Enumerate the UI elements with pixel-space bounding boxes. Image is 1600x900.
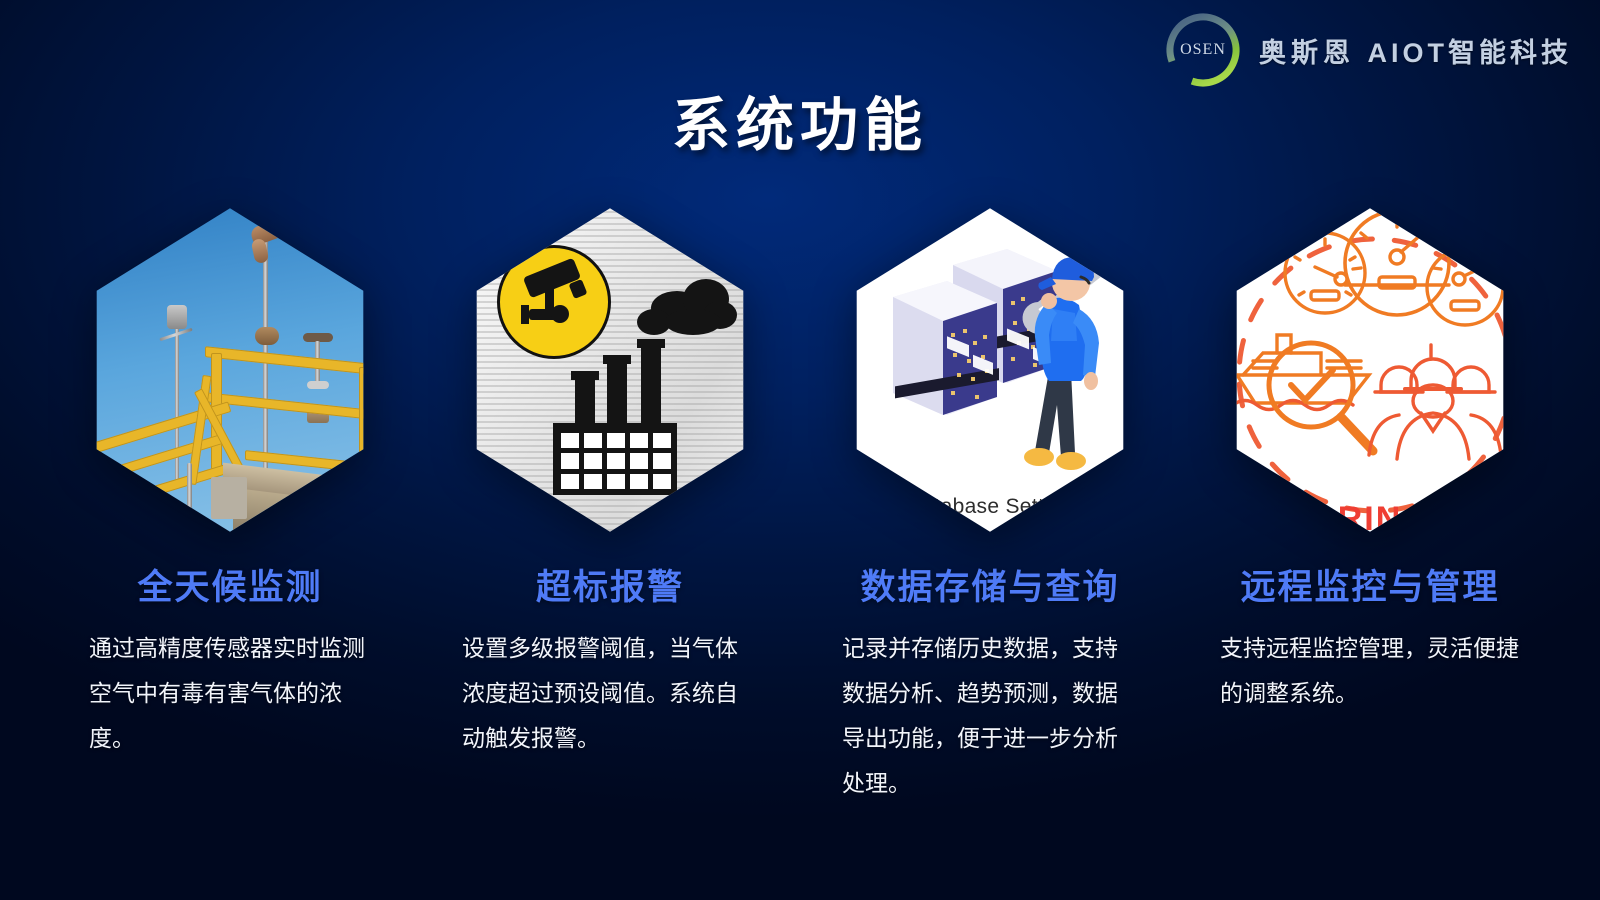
hexagon-image-frame (455, 205, 765, 535)
remote-monitoring-line-art-icon: ORING (1215, 205, 1525, 535)
card-heading: 远程监控与管理 (1240, 559, 1499, 610)
feature-card-over-limit-alarm: 超标报警 设置多级报警阈值，当气体浓度超过预设阈值。系统自动触发报警。 (440, 205, 780, 761)
hexagon-image-frame: Database Setting (835, 205, 1145, 535)
slide-canvas: OSEN 奥斯恩 AIOT智能科技 系统功能 (0, 0, 1600, 900)
feature-cards: 全天候监测 通过高精度传感器实时监测空气中有毒有害气体的浓度。 (60, 205, 1540, 805)
card-heading: 数据存储与查询 (860, 559, 1119, 610)
brand-name-cn: 奥斯恩 (1259, 38, 1355, 68)
brand-name-en: AIOT智能科技 (1368, 38, 1573, 68)
card-heading: 超标报警 (536, 559, 684, 610)
database-server-illustration-icon: Database Setting (835, 205, 1145, 535)
card-description: 支持远程监控管理，灵活便捷的调整系统。 (1220, 626, 1520, 716)
image-caption: ORING (1215, 500, 1525, 535)
feature-card-remote-monitor-manage: ORING 远程监控与管理 支持远程监控管理，灵活便捷的调整系统。 (1200, 205, 1540, 716)
image-caption: Database Setting (835, 495, 1145, 519)
card-heading: 全天候监测 (137, 559, 322, 610)
card-description: 记录并存储历史数据，支持数据分析、趋势预测，数据导出功能，便于进一步分析处理。 (842, 626, 1138, 805)
card-description: 通过高精度传感器实时监测空气中有毒有害气体的浓度。 (89, 626, 371, 761)
page-title: 系统功能 (0, 78, 1600, 162)
hexagon-image-frame (75, 205, 385, 535)
air-monitoring-station-photo-icon (75, 205, 385, 535)
card-description: 设置多级报警阈值，当气体浓度超过预设阈值。系统自动触发报警。 (462, 626, 758, 761)
brand-name: 奥斯恩 AIOT智能科技 (1259, 31, 1572, 70)
feature-card-all-weather-monitoring: 全天候监测 通过高精度传感器实时监测空气中有毒有害气体的浓度。 (60, 205, 400, 761)
feature-card-data-storage-query: Database Setting 数据存储与查询 记录并存储历史数据，支持数据分… (820, 205, 1160, 805)
cctv-camera-and-factory-icon (455, 205, 765, 535)
hexagon-image-frame: ORING (1215, 205, 1525, 535)
